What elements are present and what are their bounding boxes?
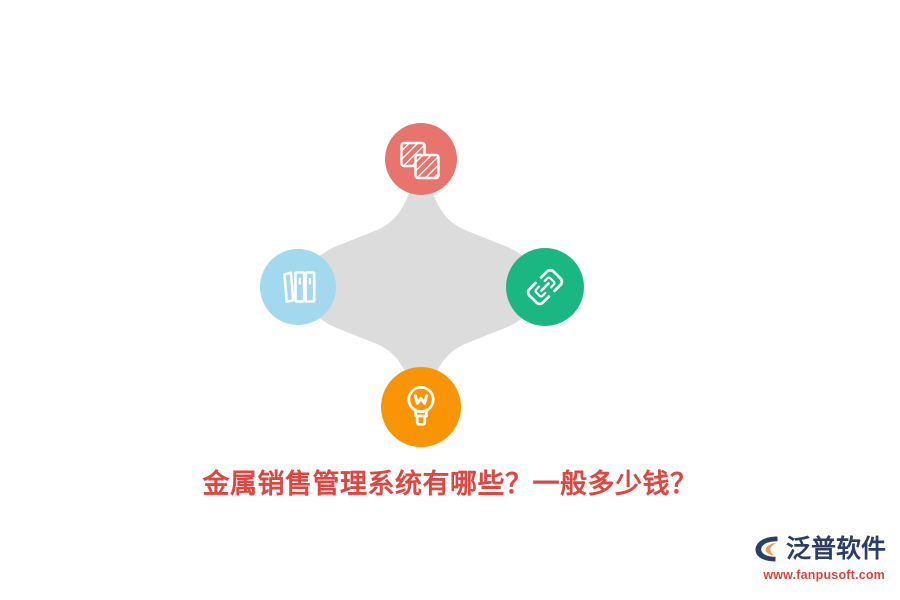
node-top <box>385 123 457 195</box>
node-right <box>506 248 584 326</box>
brand-url: www.fanpusoft.com <box>746 568 886 582</box>
node-bottom <box>381 367 461 447</box>
node-left <box>260 249 336 325</box>
page-title: 金属销售管理系统有哪些？一般多少钱？ <box>0 462 900 501</box>
brand-watermark: 泛普软件 www.fanpusoft.com <box>746 532 886 590</box>
brand-name: 泛普软件 <box>786 537 886 562</box>
brand-row: 泛普软件 <box>746 532 886 566</box>
node-left-circle <box>260 249 336 325</box>
node-bottom-circle <box>381 367 461 447</box>
four-point-star-diagram <box>0 0 900 460</box>
page-canvas: 金属销售管理系统有哪些？一般多少钱？ 泛普软件 www.fanpusoft.co… <box>0 0 900 600</box>
fanpu-c-logo-icon <box>753 534 783 564</box>
